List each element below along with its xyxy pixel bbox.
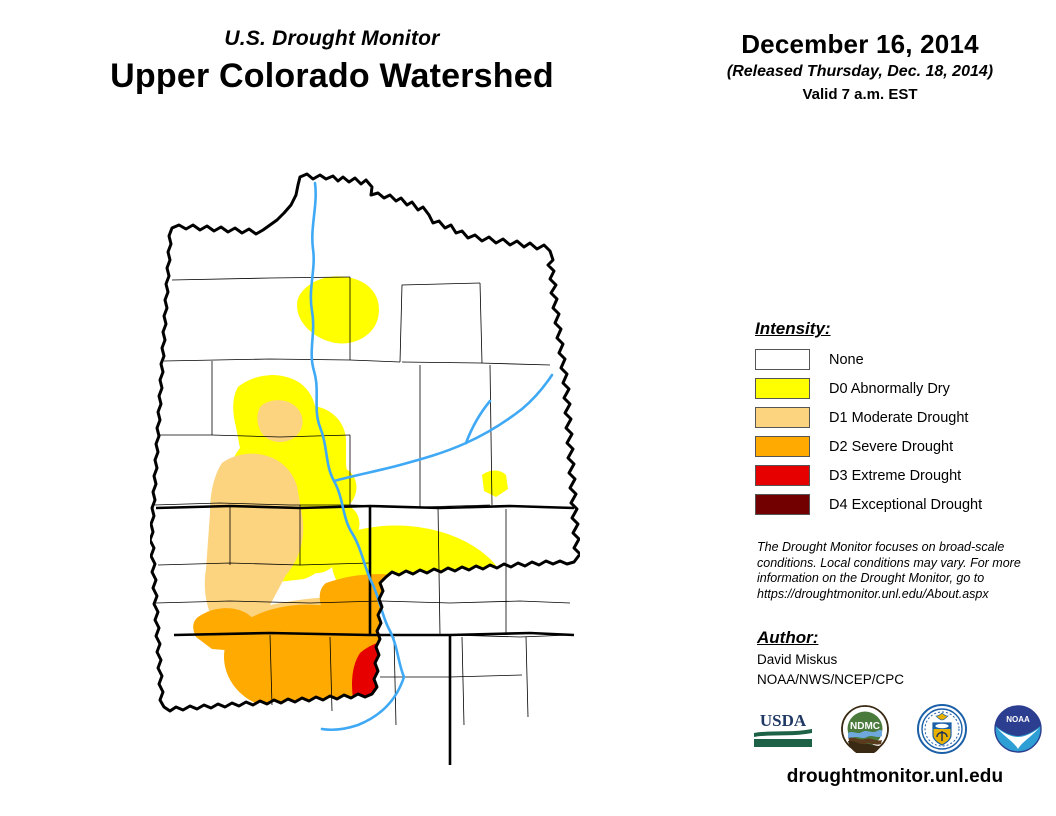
legend-label-d1: D1 Moderate Drought [829, 409, 968, 427]
disclaimer-text: The Drought Monitor focuses on broad-sca… [757, 540, 1027, 602]
noaa-logo-text: NOAA [1006, 715, 1030, 724]
author-heading: Author: [757, 627, 1027, 649]
legend-label-d0: D0 Abnormally Dry [829, 380, 950, 398]
swatch-d1 [755, 407, 810, 428]
swatch-d2 [755, 436, 810, 457]
legend-title: Intensity: [755, 318, 1035, 340]
legend-label-d3: D3 Extreme Drought [829, 467, 961, 485]
legend-label-d4: D4 Exceptional Drought [829, 496, 982, 514]
d2-area-southeast [379, 628, 562, 719]
swatch-d4 [755, 494, 810, 515]
intensity-legend: Intensity: None D0 Abnormally Dry D1 Mod… [755, 318, 1035, 522]
author-block: Author: David Miskus NOAA/NWS/NCEP/CPC [757, 627, 1027, 689]
author-affiliation: NOAA/NWS/NCEP/CPC [757, 671, 1027, 689]
page-title: Upper Colorado Watershed [0, 54, 664, 98]
d3-area-south-center [352, 639, 450, 757]
ndmc-logo: NDMC [841, 705, 889, 753]
legend-label-none: None [829, 351, 864, 369]
swatch-d3 [755, 465, 810, 486]
title-block: U.S. Drought Monitor Upper Colorado Wate… [0, 26, 664, 98]
drought-map [150, 165, 580, 785]
release-note: (Released Thursday, Dec. 18, 2014) [690, 61, 1030, 83]
legend-item-none: None [755, 348, 1035, 371]
site-url[interactable]: droughtmonitor.unl.edu [745, 766, 1045, 788]
partner-logos: USDA NDMC NOAA [752, 700, 1042, 758]
ndmc-logo-text: NDMC [850, 721, 880, 732]
swatch-d0 [755, 378, 810, 399]
legend-item-d1: D1 Moderate Drought [755, 406, 1035, 429]
date-block: December 16, 2014 (Released Thursday, De… [690, 28, 1030, 105]
noaa-logo: NOAA [994, 705, 1042, 753]
legend-item-d2: D2 Severe Drought [755, 435, 1035, 458]
legend-item-d4: D4 Exceptional Drought [755, 493, 1035, 516]
agency-title: U.S. Drought Monitor [0, 26, 664, 52]
usda-seal-logo [917, 704, 967, 754]
valid-time: Valid 7 a.m. EST [690, 85, 1030, 105]
map-date: December 16, 2014 [690, 28, 1030, 60]
d0-pocket-east [502, 565, 540, 596]
legend-label-d2: D2 Severe Drought [829, 438, 953, 456]
author-name: David Miskus [757, 651, 1027, 669]
legend-item-d0: D0 Abnormally Dry [755, 377, 1035, 400]
usda-logo-text: USDA [760, 711, 807, 730]
swatch-none [755, 349, 810, 370]
legend-item-d3: D3 Extreme Drought [755, 464, 1035, 487]
usda-logo: USDA [752, 709, 814, 749]
